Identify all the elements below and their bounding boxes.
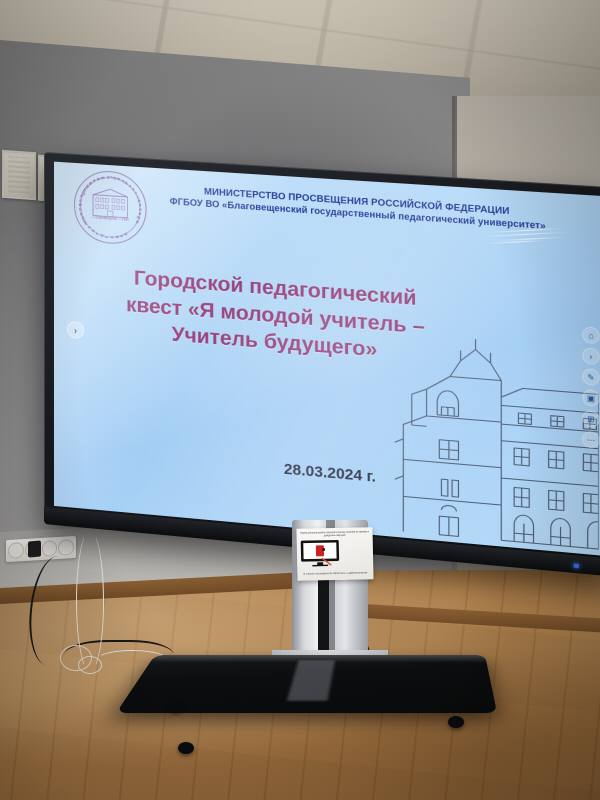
capture-icon[interactable]: ▣ xyxy=(582,389,599,407)
caster-wheel xyxy=(178,742,194,754)
power-plug xyxy=(28,541,41,558)
presentation-slide: БЛАГОВЕЩЕНСКИЙ ГОСУДАРСТВЕННЫЙПЕДАГОГИЧЕ… xyxy=(54,162,600,556)
power-led-indicator xyxy=(574,564,579,569)
wall-frame xyxy=(2,150,36,200)
socket xyxy=(42,540,58,557)
socket xyxy=(58,539,74,556)
room-photo-scene: БЛАГОВЕЩЕНСКИЙ ГОСУДАРСТВЕННЫЙПЕДАГОГИЧЕ… xyxy=(0,0,600,800)
slide-title: Городской педагогический квест «Я молодо… xyxy=(98,263,454,371)
socket xyxy=(8,542,24,559)
more-icon[interactable]: ⋯ xyxy=(582,431,599,449)
home-icon[interactable]: ⌂ xyxy=(582,326,599,344)
base-reflection xyxy=(287,660,335,700)
chevron-right-icon[interactable]: › xyxy=(67,321,84,339)
annotate-icon[interactable]: ✎ xyxy=(582,368,599,386)
caster-wheel xyxy=(168,700,184,712)
sign-bottom-text: В случае неисправности обратитесь к адми… xyxy=(300,572,370,576)
instruction-sign: Перед началом работы включите кнопку пит… xyxy=(296,527,373,581)
display-screen[interactable]: БЛАГОВЕЩЕНСКИЙ ГОСУДАРСТВЕННЫЙПЕДАГОГИЧЕ… xyxy=(54,162,600,556)
monitor-power-icon xyxy=(300,539,341,567)
interactive-display[interactable]: БЛАГОВЕЩЕНСКИЙ ГОСУДАРСТВЕННЫЙПЕДАГОГИЧЕ… xyxy=(44,152,600,577)
caster-wheel xyxy=(448,716,464,728)
university-emblem: БЛАГОВЕЩЕНСКИЙ ГОСУДАРСТВЕННЫЙПЕДАГОГИЧЕ… xyxy=(74,169,147,246)
sign-top-text: Перед началом работы включите кнопку пит… xyxy=(300,530,370,538)
apps-icon[interactable]: ⊞ xyxy=(582,410,599,428)
chevron-right-icon[interactable]: › xyxy=(582,347,599,365)
decorative-streaks xyxy=(476,223,579,249)
screen-sidebar-toolbar[interactable]: ⌂ › ✎ ▣ ⊞ ⋯ xyxy=(579,326,600,449)
wall-power-outlet[interactable] xyxy=(6,536,76,562)
